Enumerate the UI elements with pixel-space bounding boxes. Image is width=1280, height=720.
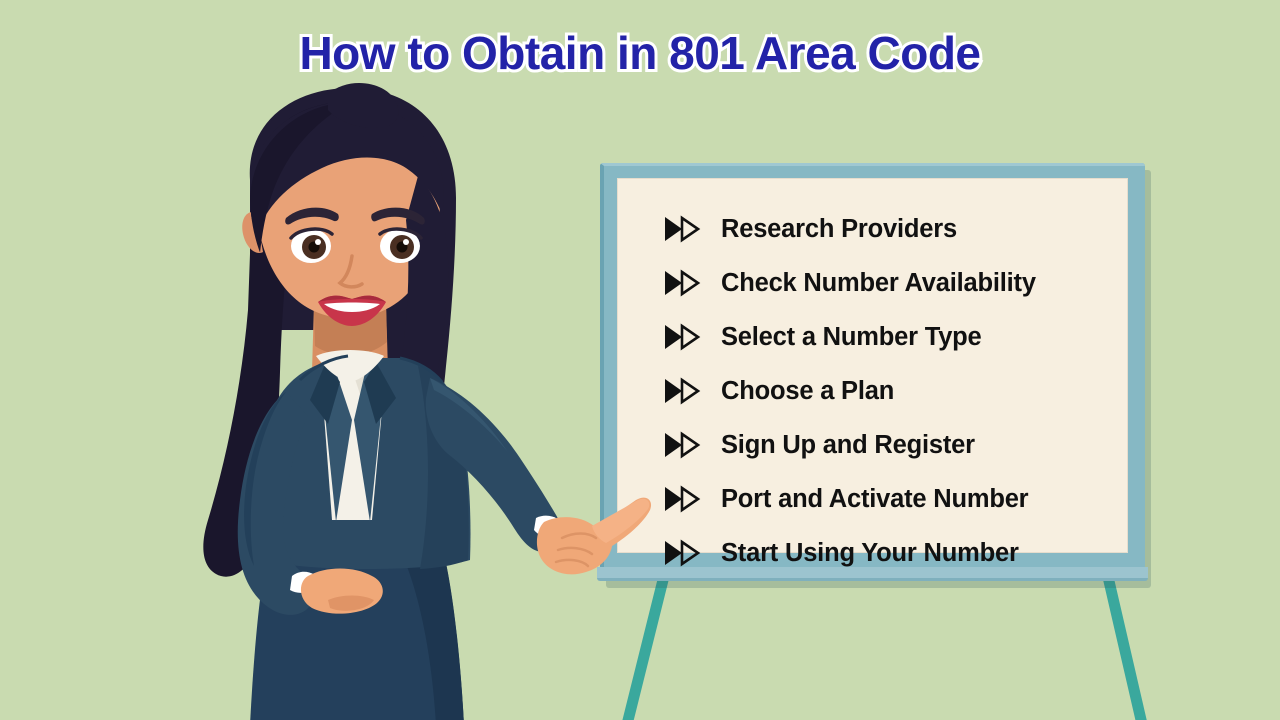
- step-label: Check Number Availability: [721, 269, 1036, 298]
- double-arrow-icon: [663, 214, 703, 244]
- double-arrow-icon: [663, 538, 703, 568]
- list-item: Sign Up and Register: [663, 418, 1128, 472]
- double-arrow-icon: [663, 376, 703, 406]
- list-item: Start Using Your Number: [663, 526, 1128, 580]
- page-title: How to Obtain in 801 Area Code: [0, 26, 1280, 80]
- list-item: Select a Number Type: [663, 310, 1128, 364]
- double-arrow-icon: [663, 484, 703, 514]
- infographic-canvas: Research Providers Check Number Availabi…: [0, 0, 1280, 720]
- step-label: Choose a Plan: [721, 377, 894, 406]
- step-label: Start Using Your Number: [721, 539, 1019, 568]
- list-item: Port and Activate Number: [663, 472, 1128, 526]
- list-item: Research Providers: [663, 202, 1128, 256]
- double-arrow-icon: [663, 430, 703, 460]
- whiteboard: Research Providers Check Number Availabi…: [600, 163, 1145, 581]
- double-arrow-icon: [663, 268, 703, 298]
- whiteboard-surface: Research Providers Check Number Availabi…: [617, 178, 1128, 553]
- list-item: Choose a Plan: [663, 364, 1128, 418]
- step-label: Port and Activate Number: [721, 485, 1028, 514]
- list-item: Check Number Availability: [663, 256, 1128, 310]
- double-arrow-icon: [663, 322, 703, 352]
- easel-leg-right: [1100, 565, 1149, 720]
- step-label: Select a Number Type: [721, 323, 982, 352]
- steps-list: Research Providers Check Number Availabi…: [663, 202, 1128, 580]
- step-label: Research Providers: [721, 215, 957, 244]
- businesswoman-illustration: [100, 80, 660, 720]
- step-label: Sign Up and Register: [721, 431, 975, 460]
